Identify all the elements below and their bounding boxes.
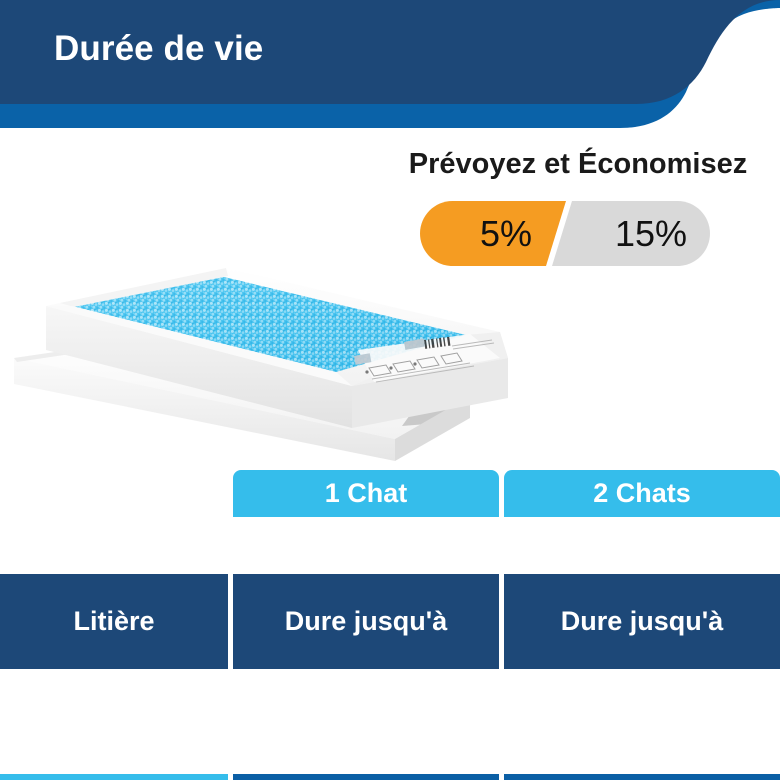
header-banner: Durée de vie [0,0,780,140]
table-row: 1 Plateau 1 mois 0,5 mois [0,622,780,697]
table-header-cell-empty [0,470,228,517]
promo-title: Prévoyez et Économisez [388,148,768,181]
table-row: 3 Plateaux 3 mois 1,5 mois [0,701,780,780]
product-infographic: Durée de vie Prévoyez et Économisez 5% 1… [0,0,780,780]
table-header-row: 1 Chat 2 Chats [0,470,780,517]
table-header-cell-two-cats: 2 Chats [504,470,780,517]
page-title: Durée de vie [54,29,263,69]
lifespan-table: 1 Chat 2 Chats Litière Dure jusqu'à Dure… [0,470,780,780]
savings-badge-right-value: 15% [576,201,726,266]
table-header-cell-one-cat: 1 Chat [233,470,499,517]
table-subheader-row: Litière Dure jusqu'à Dure jusqu'à [0,522,780,617]
product-illustration [0,246,530,461]
header-shape [0,0,780,140]
product-photo [0,246,530,461]
